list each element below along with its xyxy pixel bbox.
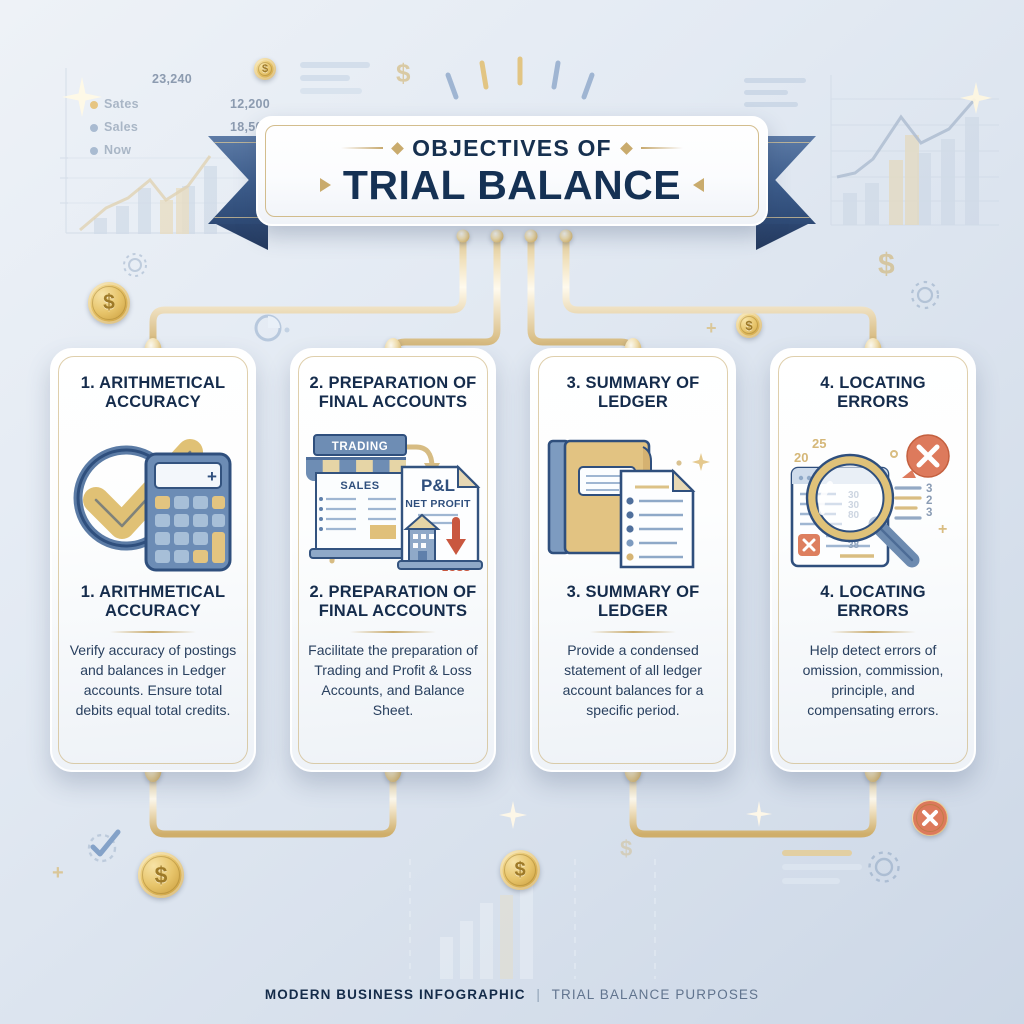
card-body-text: Verify accuracy of postings and balances…	[66, 641, 240, 721]
svg-text:3: 3	[926, 507, 932, 519]
svg-text:2: 2	[926, 495, 932, 507]
card-body-text: Facilitate the preparation of Trading an…	[306, 641, 480, 721]
ornament-line-right	[641, 147, 683, 149]
card-title: 2. PREPARATION OF FINAL ACCOUNTS	[304, 583, 482, 622]
footer-strong-text: MODERN BUSINESS INFOGRAPHIC	[265, 987, 526, 1002]
card-body-text: Provide a condensed statement of all led…	[546, 641, 720, 721]
objective-card-1[interactable]: 1. ARITHMETICAL ACCURACY +	[50, 348, 256, 772]
ledger-book-and-document-icon	[532, 421, 734, 581]
svg-text:+: +	[938, 521, 947, 538]
divider	[350, 631, 436, 633]
footer-separator: |	[536, 987, 541, 1002]
objective-card-4[interactable]: 4. LOCATING ERRORS 25 20 303080 8038	[770, 348, 976, 772]
card-title: 4. LOCATING ERRORS	[784, 583, 962, 622]
ribbon-fold-right	[756, 224, 808, 250]
ornament-diamond-right	[620, 142, 633, 155]
title-banner: OBJECTIVES OF TRIAL BALANCE	[0, 108, 1024, 248]
objective-card-2[interactable]: 2. PREPARATION OF FINAL ACCOUNTS TRADING	[290, 348, 496, 772]
svg-text:+: +	[207, 467, 217, 486]
card-header-title: 1. ARITHMETICAL ACCURACY	[66, 374, 240, 413]
infographic-canvas: 23,240 Sates 12,200 Sales 18,500 Now 25,…	[0, 0, 1024, 1024]
ornament-line-left	[341, 147, 383, 149]
divider	[830, 631, 916, 633]
footer-light-text: TRIAL BALANCE PURPOSES	[552, 987, 760, 1002]
ornament-arrow-right	[693, 178, 704, 192]
svg-text:3: 3	[926, 483, 932, 495]
icon-number-20: 20	[794, 450, 808, 465]
card-header-title: 3. SUMMARY OF LEDGER	[546, 374, 720, 413]
ornament-diamond-left	[391, 142, 404, 155]
shop-and-pnl-document-icon: TRADING SALES	[292, 421, 494, 581]
svg-text:P&L: P&L	[421, 476, 455, 495]
ribbon-fold-left	[216, 224, 268, 250]
footer-caption: MODERN BUSINESS INFOGRAPHIC | TRIAL BALA…	[0, 987, 1024, 1002]
page-title: TRIAL BALANCE	[343, 164, 681, 207]
card-title: 1. ARITHMETICAL ACCURACY	[64, 583, 242, 622]
magnifier-error-report-icon: 25 20 303080 8038	[772, 421, 974, 581]
card-header-title: 4. LOCATING ERRORS	[786, 374, 960, 413]
divider	[110, 631, 196, 633]
icon-number-25: 25	[812, 436, 826, 451]
divider	[590, 631, 676, 633]
card-body-text: Help detect errors of omission, commissi…	[786, 641, 960, 721]
objective-card-3[interactable]: 3. SUMMARY OF LEDGER	[530, 348, 736, 772]
page-title-small: OBJECTIVES OF	[412, 135, 612, 162]
checkmark-calculator-icon: +	[52, 421, 254, 581]
banner-subtitle-row: OBJECTIVES OF	[341, 135, 683, 162]
banner-title-row: TRIAL BALANCE	[320, 164, 704, 207]
card-header-title: 2. PREPARATION OF FINAL ACCOUNTS	[306, 374, 480, 413]
banner-plate: OBJECTIVES OF TRIAL BALANCE	[256, 116, 768, 226]
svg-text:TRADING: TRADING	[332, 441, 389, 453]
card-title: 3. SUMMARY OF LEDGER	[544, 583, 722, 622]
svg-text:NET PROFIT: NET PROFIT	[405, 498, 471, 510]
svg-text:SALES: SALES	[340, 480, 379, 492]
ornament-arrow-left	[320, 178, 331, 192]
